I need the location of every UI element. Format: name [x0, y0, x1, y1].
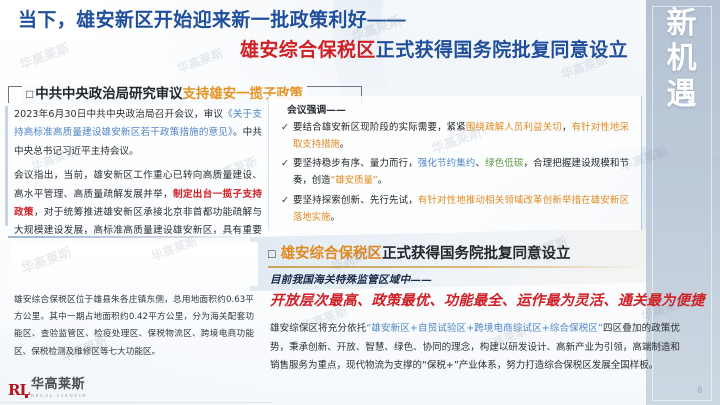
bullet-2-b: 、 [476, 158, 486, 169]
bullet-3-b: 。 [331, 212, 340, 223]
title-line-1: 当下，雄安新区开始迎来新一批政策利好—— [0, 10, 650, 33]
slide-root: 新 机 遇 当下，雄安新区开始迎来新一批政策利好—— 雄安综合保税区正式获得国务… [0, 0, 720, 405]
bullet-2-quote: “雄安质量” [331, 175, 378, 186]
side-band-title: 新 机 遇 [658, 6, 706, 112]
left-caption: 雄安综合保税区位于雄县朱各庄镇东侧，总用地面积约0.63平方公里。其中一期占地面… [14, 292, 254, 361]
check-icon: ✓ [281, 120, 293, 137]
emphasis-line-2: 开放层次最高、政策最优、功能最全、运作最为灵活、通关最为便捷 [270, 290, 700, 310]
meeting-highlights-lead: 会议强调—— [287, 102, 346, 116]
logo-chinese: 华高莱斯 [31, 378, 87, 392]
bullet-1-b: ， [562, 122, 572, 133]
bullet-3-a: 要坚持探索创新、先行先试， [293, 195, 418, 206]
bullet-1-c: 。 [340, 139, 349, 150]
page-title: 当下，雄安新区开始迎来新一批政策利好—— 雄安综合保税区正式获得国务院批复同意设… [0, 10, 650, 63]
section-heading-2: □雄安综合保税区正式获得国务院批复同意设立 [268, 244, 640, 268]
title-line-2-blue: 正式获得国务院批复同意设立 [376, 40, 628, 61]
bottom-para-a: 雄安综保区将充分依托 [270, 323, 366, 334]
bullet-2-a: 要坚持稳步有序、量力而行， [293, 158, 418, 169]
logo-english: REGAL LIANYIN [31, 392, 87, 399]
logo-mark-icon: RL [8, 382, 27, 399]
check-icon: ✓ [281, 193, 293, 210]
title-line-2-red: 雄安综合保税区 [240, 40, 376, 61]
bullet-1-a: 要结合雄安新区现阶段的实际需要，紧紧 [293, 122, 466, 133]
meeting-highlights-panel: 会议强调—— ✓ 要结合雄安新区现阶段的实际需要，紧紧围绕疏解人员利益关切，有针… [268, 96, 642, 230]
left-p1-a: 2023年6月30日中共中央政治局召开会议，审议 [14, 109, 223, 120]
list-item-text: 要坚持探索创新、先行先试，有针对性地推动相关领域改革创新举措在雄安新区落地实施。 [293, 193, 629, 226]
left-accent-bar [5, 106, 8, 226]
section-heading-1-text: □中共中央政治局研究审议支持雄安一揽子政策 [22, 84, 307, 104]
title-line-2: 雄安综合保税区正式获得国务院批复同意设立 [0, 40, 650, 63]
list-item: ✓ 要坚持探索创新、先行先试，有针对性地推动相关领域改革创新举措在雄安新区落地实… [281, 193, 629, 226]
emphasis-line-1: 目前我国海关特殊监管区域中—— [270, 272, 700, 287]
section-heading-2-dark: 正式获得国务院批复同意设立 [382, 246, 571, 262]
square-bullet-icon: □ [26, 87, 33, 101]
meeting-highlights-list: ✓ 要结合雄安新区现阶段的实际需要，紧紧围绕疏解人员利益关切，有针对性地采取支持… [281, 120, 629, 229]
square-bullet-icon: □ [268, 247, 276, 261]
section-heading-2-orange: 雄安综合保税区 [281, 246, 383, 262]
bullet-1-hi1: 围绕疏解人员利益关切 [466, 122, 562, 133]
list-item-text: 要结合雄安新区现阶段的实际需要，紧紧围绕疏解人员利益关切，有针对性地采取支持措施… [293, 120, 629, 153]
side-band-char-3: 遇 [658, 77, 706, 112]
left-divider [8, 236, 258, 238]
check-icon: ✓ [281, 156, 293, 173]
emphasis-block: 目前我国海关特殊监管区域中—— 开放层次最高、政策最优、功能最全、运作最为灵活、… [270, 272, 700, 310]
bullet-2-hi1: 强化节约集约 [418, 158, 476, 169]
list-item: ✓ 要坚持稳步有序、量力而行，强化节约集约、绿色低碳，合理把握建设规模和节奏，创… [281, 156, 629, 189]
bottom-para-quote: “雄安新区+自贸试验区+跨境电商综试区+综合保税区” [366, 323, 603, 334]
list-item: ✓ 要结合雄安新区现阶段的实际需要，紧紧围绕疏解人员利益关切，有针对性地采取支持… [281, 120, 629, 153]
left-paragraph-1: 2023年6月30日中共中央政治局召开会议，审议《关于支持高标准高质量建设雄安新… [14, 106, 262, 161]
section-heading-1-dark: 中共中央政治局研究审议 [35, 86, 182, 101]
footer-divider [0, 402, 272, 403]
logo-dot-icon [25, 395, 28, 398]
bullet-2-d: 。 [378, 175, 387, 186]
page-number: 8 [698, 385, 703, 395]
list-item-text: 要坚持稳步有序、量力而行，强化节约集约、绿色低碳，合理把握建设规模和节奏，创造“… [293, 156, 629, 189]
bullet-2-hi2: 绿色低碳 [485, 158, 523, 169]
section-heading-2-rule [268, 266, 640, 268]
side-band-char-1: 新 [658, 6, 706, 41]
bottom-paragraph: 雄安综保区将充分依托“雄安新区+自贸试验区+跨境电商综试区+综合保税区”四区叠加… [270, 320, 680, 376]
logo-wordmark: 华高莱斯 REGAL LIANYIN [31, 378, 87, 399]
side-band-char-2: 机 [658, 41, 706, 76]
left-photo [10, 242, 258, 286]
logo: RL 华高莱斯 REGAL LIANYIN [8, 378, 87, 399]
section-heading-2-text: □雄安综合保税区正式获得国务院批复同意设立 [268, 244, 640, 264]
